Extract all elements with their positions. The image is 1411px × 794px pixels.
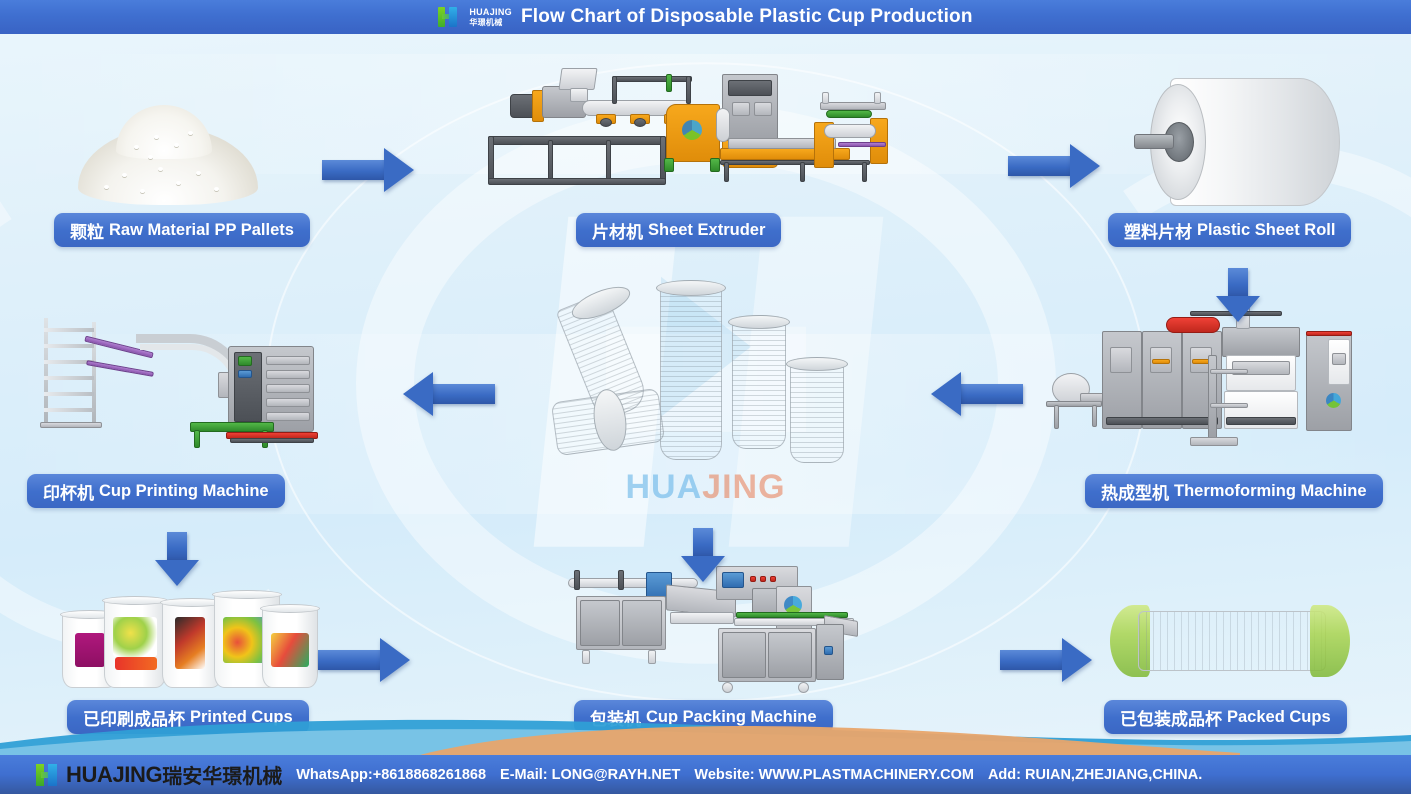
label-thermoforming-machine[interactable]: 热成型机 Thermoforming Machine (1085, 474, 1383, 508)
illustration-printed-cups (62, 588, 320, 688)
arrow-printing-to-printed-cups (155, 532, 199, 588)
arrow-cups-to-printing (400, 372, 495, 416)
illustration-cup-printing-machine (40, 318, 340, 458)
arrow-thermoforming-to-cups (928, 372, 1023, 416)
label-raw-material-en: Raw Material PP Pallets (109, 221, 294, 240)
footer-whatsapp[interactable]: WhatsApp:+8618868261868 (296, 767, 486, 783)
label-cup-printing-machine-en: Cup Printing Machine (99, 482, 269, 501)
label-cup-printing-machine-cn: 印杯机 (43, 479, 94, 504)
label-raw-material[interactable]: 颗粒 Raw Material PP Pallets (54, 213, 310, 247)
header-logo-en: HUAJING (469, 8, 512, 17)
arrow-down-to-packing (681, 528, 725, 584)
illustration-packed-cups (1110, 595, 1350, 690)
huajing-logo-icon (438, 6, 460, 28)
label-cup-printing-machine[interactable]: 印杯机 Cup Printing Machine (27, 474, 285, 508)
header-logo-cn: 华璟机械 (469, 19, 512, 27)
arrow-packing-to-packed-cups (1000, 638, 1095, 682)
footer-address: Add: RUIAN,ZHEJIANG,CHINA. (988, 767, 1202, 783)
page-title: Flow Chart of Disposable Plastic Cup Pro… (521, 6, 973, 28)
illustration-cup-stacks (552, 285, 852, 480)
footer-email[interactable]: E-Mail: LONG@RAYH.NET (500, 767, 680, 783)
footer-brand-en: HUAJING (66, 762, 162, 788)
footer-bar: HUAJING 瑞安华璟机械 WhatsApp:+8618868261868 E… (0, 755, 1411, 794)
label-sheet-extruder-cn: 片材机 (592, 218, 643, 243)
illustration-plastic-sheet-roll (1150, 78, 1355, 208)
illustration-sheet-extruder (470, 62, 900, 197)
footer-wave-decoration (0, 713, 1411, 755)
label-plastic-sheet-roll-cn: 塑料片材 (1124, 218, 1192, 243)
label-raw-material-cn: 颗粒 (70, 218, 104, 243)
label-thermoforming-machine-cn: 热成型机 (1101, 479, 1169, 504)
label-sheet-extruder-en: Sheet Extruder (648, 221, 765, 240)
flowchart-page: HUAJING 华璟机械 Flow Chart of Disposable Pl… (0, 0, 1411, 794)
illustration-raw-material-pellets (78, 100, 258, 205)
footer-brand-cn: 瑞安华璟机械 (162, 760, 282, 789)
arrow-extruder-to-sheet-roll (1008, 144, 1103, 188)
label-plastic-sheet-roll-en: Plastic Sheet Roll (1197, 221, 1335, 240)
footer-huajing-logo-icon (36, 763, 60, 787)
label-plastic-sheet-roll[interactable]: 塑料片材 Plastic Sheet Roll (1108, 213, 1351, 247)
arrow-printed-cups-to-packing (318, 638, 413, 682)
illustration-thermoforming-machine (1040, 305, 1385, 460)
label-thermoforming-machine-en: Thermoforming Machine (1174, 482, 1367, 501)
footer-website[interactable]: Website: WWW.PLASTMACHINERY.COM (694, 767, 974, 783)
header-logo-text: HUAJING 华璟机械 (469, 8, 512, 27)
header-bar: HUAJING 华璟机械 Flow Chart of Disposable Pl… (0, 0, 1411, 34)
label-sheet-extruder[interactable]: 片材机 Sheet Extruder (576, 213, 781, 247)
arrow-raw-to-extruder (322, 148, 417, 192)
arrow-sheet-roll-to-thermoforming (1216, 268, 1260, 324)
